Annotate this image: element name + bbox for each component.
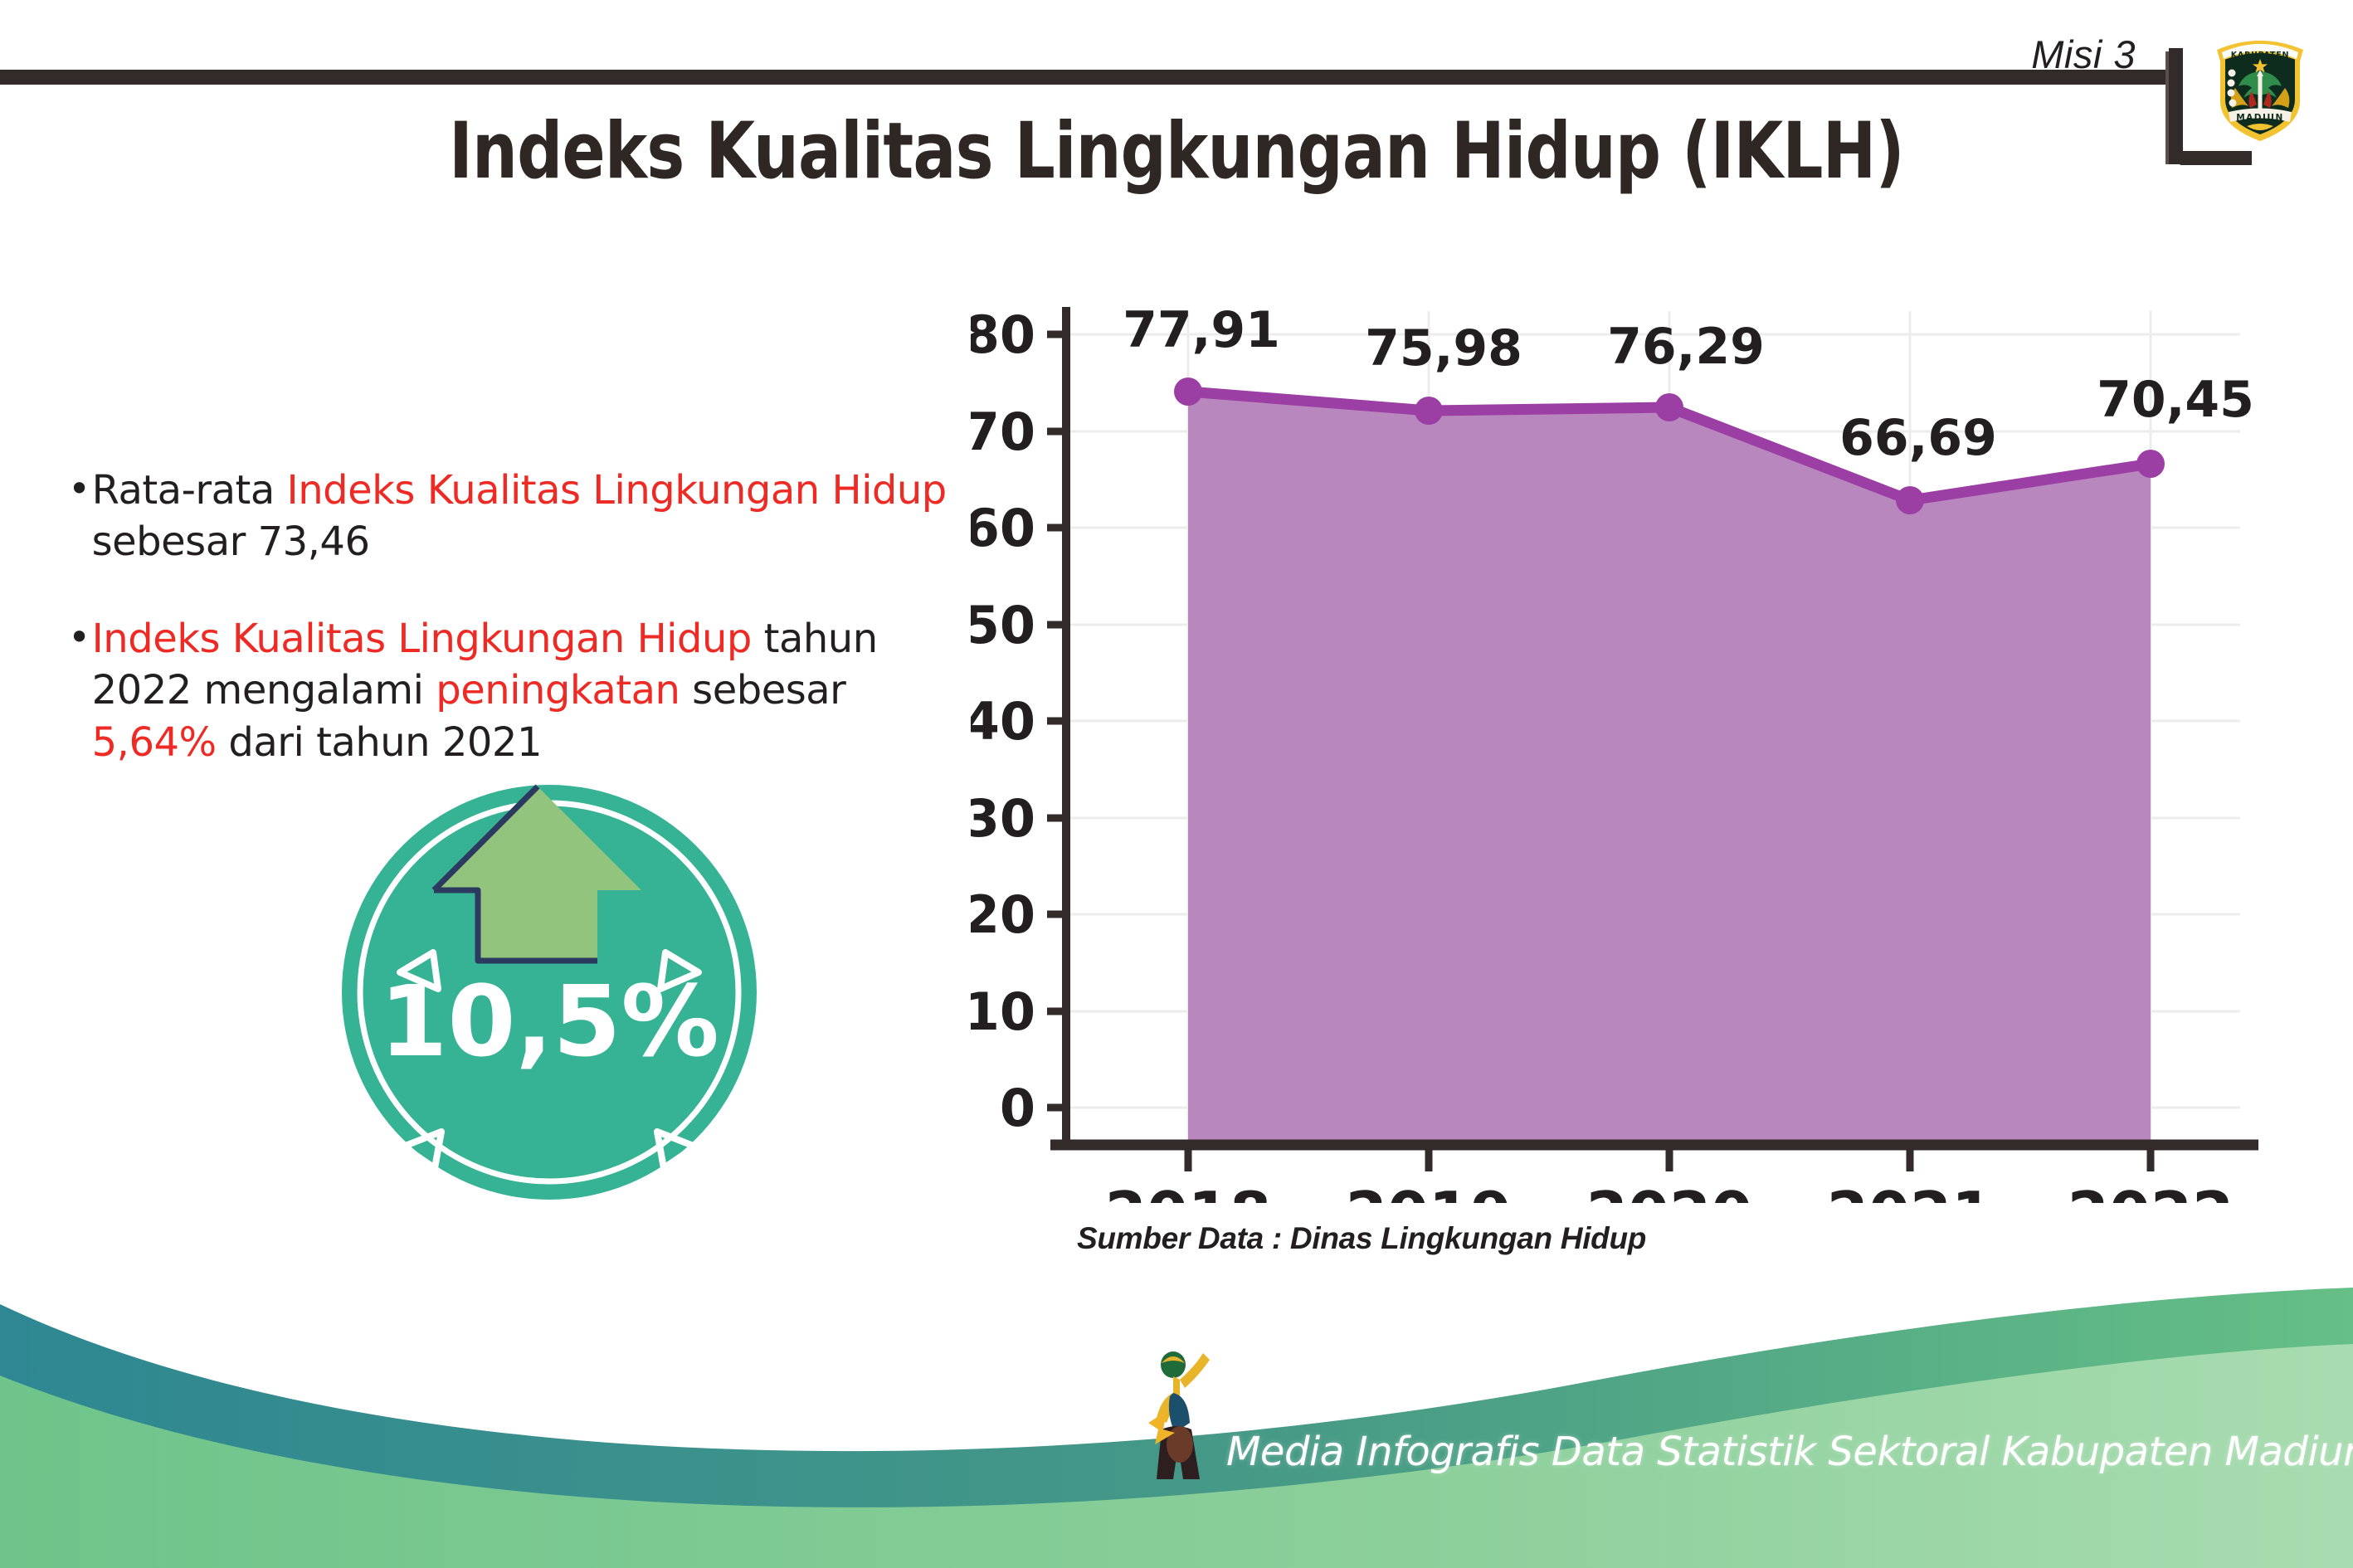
- chart-x-tick-label: 2021: [1827, 1179, 1993, 1203]
- chart-y-tick-label: 0: [1000, 1078, 1035, 1138]
- chart-marker: [1174, 377, 1202, 406]
- chart-marker: [2136, 450, 2165, 478]
- chart-data-label: 75,98: [1365, 319, 1522, 377]
- footer-label: Media Infografis Data Statistik Sektoral…: [1226, 1429, 2353, 1475]
- chart-y-tick-label: 20: [971, 884, 1035, 945]
- chart-data-label: 77,91: [1123, 301, 1280, 359]
- chart-x-tick-label: 2018: [1105, 1179, 1271, 1203]
- bracket-vertical: [2169, 48, 2183, 164]
- misi-label: Misi 3: [2031, 32, 2136, 77]
- chart-y-tick-label: 60: [971, 498, 1035, 558]
- chart-x-tick-labels: 2018 2019 2020 2021 2022: [1105, 1179, 2234, 1203]
- chart-y-tick-label: 30: [971, 788, 1035, 849]
- chart-y-tick-label: 50: [971, 595, 1035, 655]
- badge-value: 10,5%: [379, 964, 719, 1079]
- svg-text:KABUPATEN: KABUPATEN: [2231, 51, 2290, 60]
- statistics-person-icon: [1137, 1346, 1228, 1492]
- chart-source-note: Sumber Data : Dinas Lingkungan Hidup: [1077, 1221, 1646, 1256]
- chart-data-label: 76,29: [1607, 318, 1765, 376]
- bullet-seg-highlight: 5,64%: [92, 719, 217, 766]
- bullet-seg-highlight: peningkatan: [436, 667, 680, 713]
- chart-y-tick-label: 80: [971, 304, 1035, 365]
- kabupaten-madiun-emblem-icon: KABUPATEN MADIUN: [2210, 25, 2310, 145]
- list-item: • Rata-rata Indeks Kualitas Lingkungan H…: [68, 465, 972, 568]
- iklh-area-chart: 77,91 75,98 76,29 66,69 70,45: [971, 274, 2282, 1203]
- infographic-slide: Misi 3 KABUPATEN MADIUN Indeks Kualitas …: [0, 0, 2353, 1568]
- bullet-marker: •: [68, 465, 90, 514]
- bullet-seg: Rata-rata: [92, 467, 287, 514]
- chart-marker: [1655, 393, 1683, 421]
- bullet-seg: sebesar: [680, 667, 845, 713]
- bullet-seg: sebesar 73,46: [92, 519, 370, 565]
- increase-badge: 10,5%: [324, 747, 788, 1211]
- chart-y-tick-labels: 80 70 60 50 40 30 20 10 0: [971, 304, 1035, 1138]
- chart-data-label: 70,45: [2097, 371, 2254, 429]
- chart-x-tick-label: 2019: [1346, 1179, 1512, 1203]
- bullet-seg-highlight: Indeks Kualitas Lingkungan Hidup: [287, 467, 947, 514]
- bullet-marker: •: [68, 613, 90, 663]
- bracket-horizontal: [2169, 151, 2252, 165]
- chart-y-tick-label: 40: [971, 691, 1035, 752]
- bullet-text-1: Indeks Kualitas Lingkungan Hidup tahun 2…: [92, 613, 972, 768]
- chart-marker: [1896, 486, 1924, 514]
- header-rule: [0, 70, 2169, 85]
- chart-y-tick-label: 70: [971, 402, 1035, 462]
- svg-text:MADIUN: MADIUN: [2236, 113, 2284, 123]
- chart-area-fill: [1188, 392, 2151, 1145]
- bullet-seg-highlight: Indeks Kualitas Lingkungan Hidup: [92, 616, 752, 662]
- bullet-text-0: Rata-rata Indeks Kualitas Lingkungan Hid…: [92, 465, 972, 568]
- chart-marker: [1415, 397, 1443, 425]
- chart-x-tick-label: 2022: [2068, 1179, 2234, 1203]
- chart-y-tick-label: 10: [971, 981, 1035, 1042]
- chart-x-tick-label: 2020: [1586, 1179, 1752, 1203]
- list-item: • Indeks Kualitas Lingkungan Hidup tahun…: [68, 613, 972, 768]
- chart-data-label: 66,69: [1839, 409, 1997, 467]
- page-title: Indeks Kualitas Lingkungan Hidup (IKLH): [212, 106, 2141, 197]
